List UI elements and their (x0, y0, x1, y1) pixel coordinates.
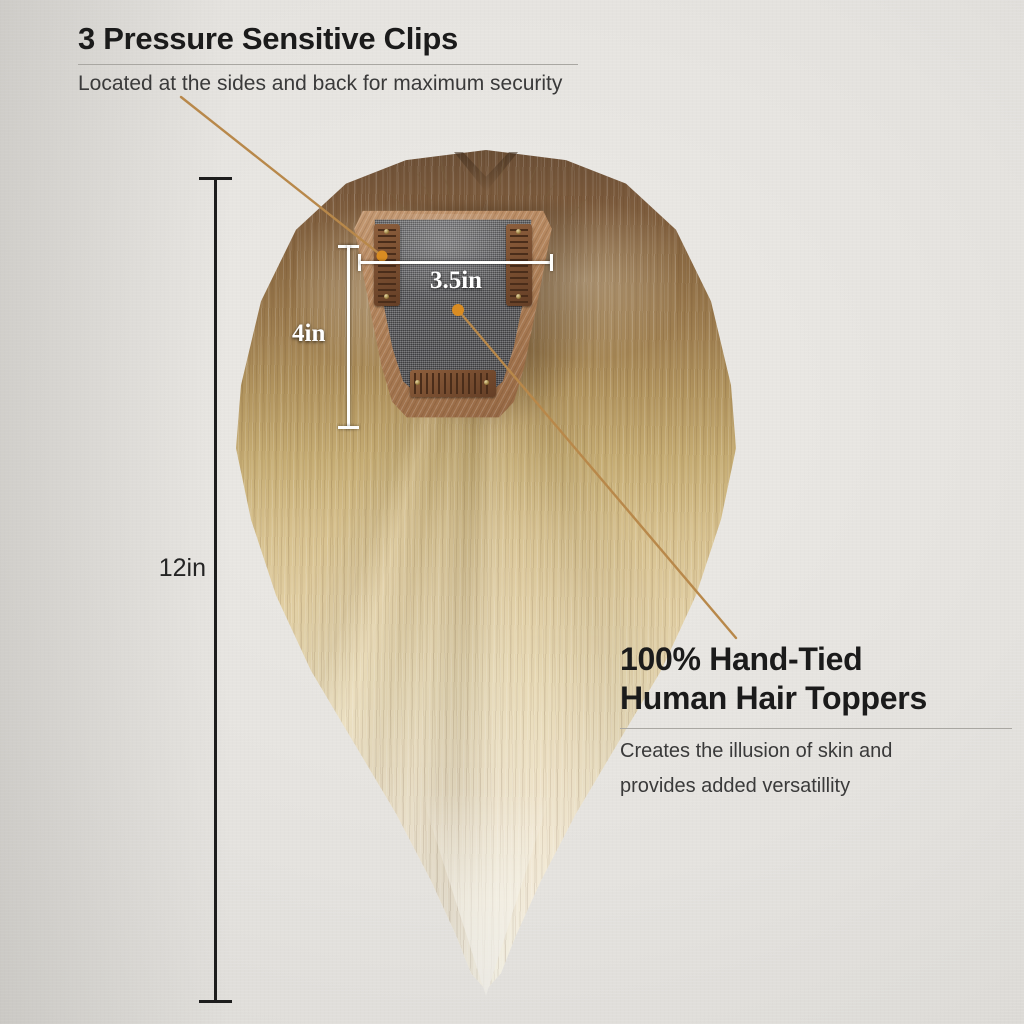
hand-tied-headline-line2: Human Hair Toppers (620, 679, 1016, 718)
hand-tied-subtext-line2: provides added versatillity (620, 773, 1016, 799)
pressure-clip-back (410, 370, 496, 397)
lace-base (348, 202, 558, 424)
clips-callout-headline: 3 Pressure Sensitive Clips (78, 22, 578, 57)
overall-length-dimension: 12in (190, 172, 242, 1008)
base-length-label: 4in (292, 320, 325, 348)
clips-callout: 3 Pressure Sensitive Clips Located at th… (78, 22, 578, 98)
hand-tied-callout: 100% Hand-Tied Human Hair Toppers Create… (620, 640, 1016, 800)
clips-callout-rule (78, 64, 578, 65)
base-length-dimension: 4in (296, 242, 356, 434)
clips-callout-subtext: Located at the sides and back for maximu… (78, 71, 578, 98)
overall-length-label: 12in (159, 554, 206, 583)
clip-rivet (384, 229, 389, 234)
clip-rivet (516, 229, 521, 234)
base-width-dimension: 3.5in (358, 250, 554, 296)
dimension-line (347, 245, 350, 429)
dimension-cap-bottom (338, 426, 359, 429)
dimension-cap-bottom (199, 1000, 232, 1003)
clip-rivet (415, 380, 420, 385)
dimension-line (360, 261, 552, 264)
hand-tied-callout-rule (620, 728, 1012, 729)
base-width-label: 3.5in (358, 267, 554, 295)
infographic-canvas: 12in 3.5in 4in 3 Pressure Sensitive Clip… (0, 0, 1024, 1024)
hand-tied-headline-line1: 100% Hand-Tied (620, 640, 1016, 679)
hand-tied-subtext-line1: Creates the illusion of skin and (620, 738, 1016, 764)
clip-rivet (484, 380, 489, 385)
dimension-line (214, 177, 217, 1003)
clip-teeth (414, 373, 492, 394)
